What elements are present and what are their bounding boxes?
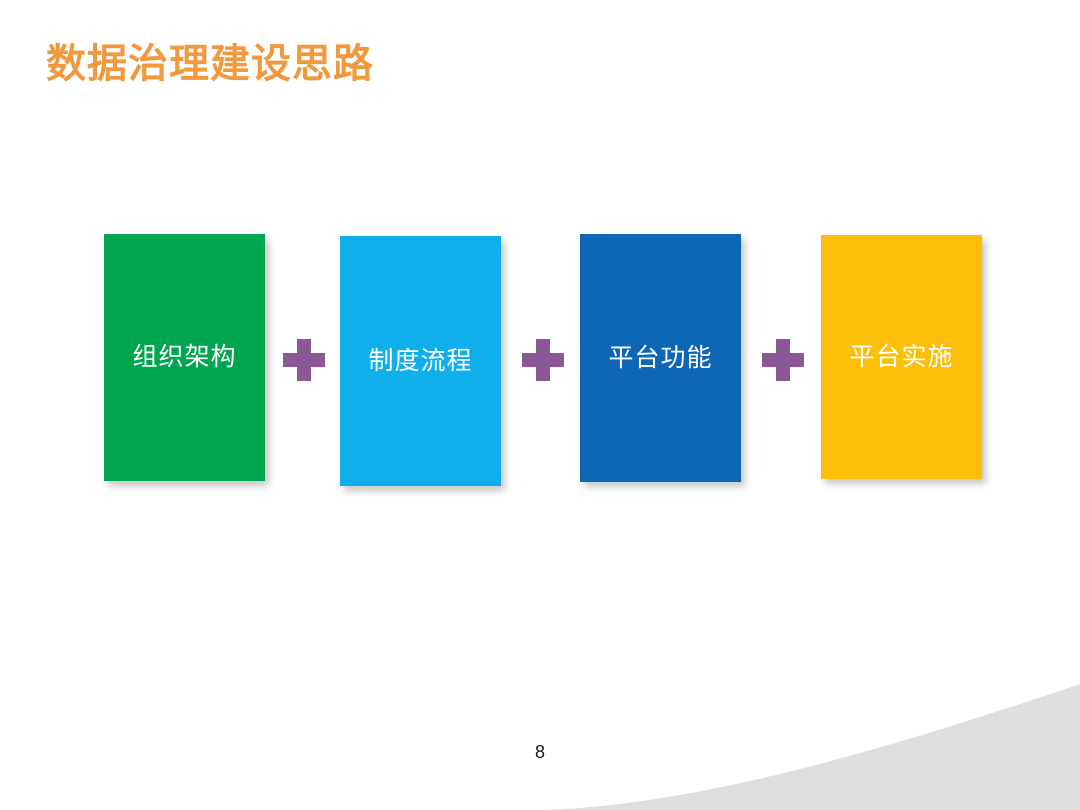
page-number: 8 — [0, 742, 1080, 763]
process-step-1[interactable]: 组织架构 — [104, 234, 265, 481]
process-step-2-label: 制度流程 — [368, 349, 472, 374]
page-title: 数据治理建设思路 — [46, 40, 374, 88]
process-step-3[interactable]: 平台功能 — [580, 234, 741, 482]
plus-icon-3 — [762, 339, 804, 381]
process-chain-diagram: 组织架构 制度流程 平台功能 平台实施 — [104, 234, 986, 486]
plus-icon-2 — [522, 339, 564, 381]
plus-icon-1 — [283, 339, 325, 381]
process-step-2[interactable]: 制度流程 — [340, 236, 501, 486]
process-step-4-label: 平台实施 — [849, 345, 953, 370]
process-step-3-label: 平台功能 — [608, 346, 712, 371]
process-step-4[interactable]: 平台实施 — [821, 235, 982, 479]
process-step-1-label: 组织架构 — [132, 345, 236, 370]
slide-canvas: 数据治理建设思路 组织架构 制度流程 平台功能 平台实施 — [0, 0, 1080, 810]
